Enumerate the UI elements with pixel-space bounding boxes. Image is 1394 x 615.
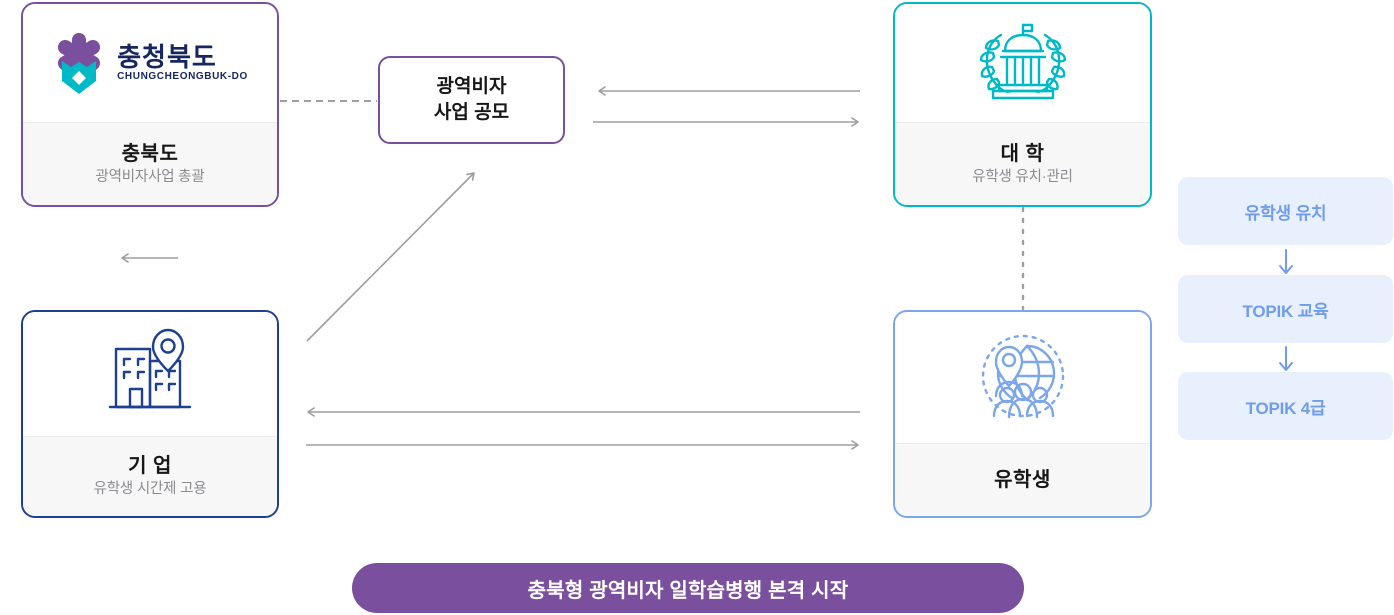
chungbuk-logo-korean: 충청북도 <box>117 44 217 70</box>
step-chip-topik-level4[interactable]: TOPIK 4급 <box>1178 372 1393 440</box>
step-chip-topik-level4-label: TOPIK 4급 <box>1246 394 1326 419</box>
card-company-subtitle: 유학생 시간제 고용 <box>94 482 207 497</box>
card-company-title: 기 업 <box>128 456 172 476</box>
arrow-down-icon <box>1278 249 1294 275</box>
card-chungbuk-label-area: 충북도 광역비자사업 총괄 <box>23 122 277 205</box>
bottom-banner-label: 충북형 광역비자 일학습병행 본격 시작 <box>528 574 849 603</box>
card-university-icon-area <box>895 4 1150 122</box>
card-chungbuk-title: 충북도 <box>122 144 179 164</box>
step-arrow-1-icon <box>1178 247 1393 277</box>
card-student-label-area: 유학생 <box>895 443 1150 516</box>
step-chip-topik-education[interactable]: TOPIK 교육 <box>1178 275 1393 343</box>
diagram-canvas: 충청북도 CHUNGCHEONGBUK-DO 충북도 광역비자사업 총괄 광역비… <box>0 0 1394 615</box>
bottom-banner[interactable]: 충북형 광역비자 일학습병행 본격 시작 <box>352 563 1024 613</box>
card-chungbuk-icon-area: 충청북도 CHUNGCHEONGBUK-DO <box>23 4 277 122</box>
card-company[interactable]: 기 업 유학생 시간제 고용 <box>21 310 279 518</box>
step-chip-recruit-students-label: 유학생 유치 <box>1245 199 1327 224</box>
notice-line-1: 광역비자 <box>437 76 507 97</box>
chungbuk-emblem-icon <box>52 31 106 95</box>
card-university-label-area: 대 학 유학생 유치·관리 <box>895 122 1150 205</box>
international-students-globe-icon <box>974 332 1072 424</box>
connector-company-to-notice <box>307 173 474 341</box>
university-building-icon <box>971 17 1075 109</box>
card-university[interactable]: 대 학 유학생 유치·관리 <box>893 2 1152 207</box>
chungbuk-logo-text: 충청북도 CHUNGCHEONGBUK-DO <box>117 44 248 82</box>
step-arrow-2-icon <box>1178 344 1393 374</box>
card-chungbuk[interactable]: 충청북도 CHUNGCHEONGBUK-DO 충북도 광역비자사업 총괄 <box>21 2 279 207</box>
notice-box-gwangyeok-visa[interactable]: 광역비자 사업 공모 <box>378 56 565 144</box>
card-student-title: 유학생 <box>994 470 1051 490</box>
card-company-icon-area <box>23 312 277 436</box>
step-chip-recruit-students[interactable]: 유학생 유치 <box>1178 177 1393 245</box>
card-university-title: 대 학 <box>1001 144 1045 164</box>
card-university-subtitle: 유학생 유치·관리 <box>972 170 1072 185</box>
card-chungbuk-subtitle: 광역비자사업 총괄 <box>96 170 205 185</box>
chungcheongbuk-do-logo-icon: 충청북도 CHUNGCHEONGBUK-DO <box>52 31 248 95</box>
step-chip-topik-education-label: TOPIK 교육 <box>1242 297 1328 322</box>
card-company-label-area: 기 업 유학생 시간제 고용 <box>23 436 277 516</box>
notice-box-text: 광역비자 사업 공모 <box>434 74 509 125</box>
arrow-down-icon <box>1278 346 1294 372</box>
office-building-location-icon <box>104 327 196 421</box>
chungbuk-logo-english: CHUNGCHEONGBUK-DO <box>117 72 248 82</box>
card-student[interactable]: 유학생 <box>893 310 1152 518</box>
notice-line-2: 사업 공모 <box>434 102 509 123</box>
card-student-icon-area <box>895 312 1150 443</box>
